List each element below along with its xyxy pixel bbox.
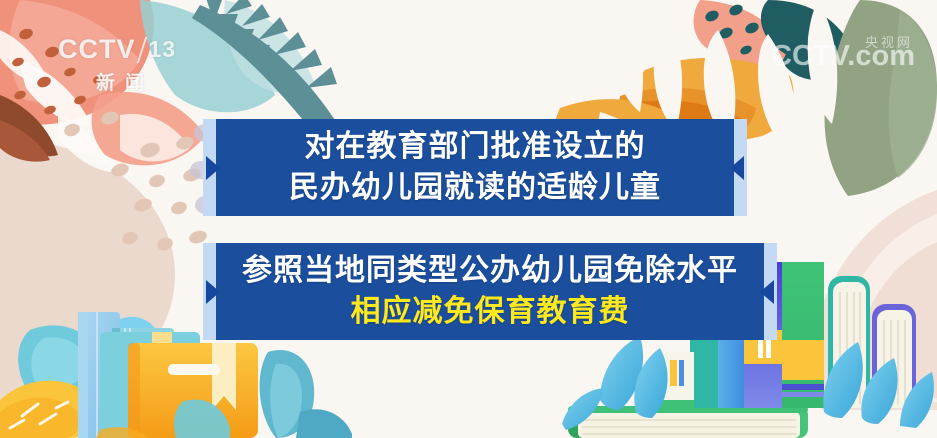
left-triangle-icon — [730, 156, 744, 180]
callout-box-2: 参照当地同类型公办幼儿园免除水平 相应减免保育教育费 — [203, 243, 777, 340]
callout-2-left-edge — [203, 243, 216, 340]
watermark-cn-text: 央视网 — [865, 36, 913, 49]
cctv-logo-row: CCTV 13 — [58, 36, 178, 63]
callout-2-panel: 参照当地同类型公办幼儿园免除水平 相应减免保育教育费 — [216, 243, 764, 340]
cctv-com-watermark: 央视网 CCTV.com — [771, 42, 915, 71]
callout-box-1: 对在教育部门批准设立的 民办幼儿园就读的适龄儿童 — [203, 119, 747, 216]
cctv-13-logo: CCTV 13 新闻 — [58, 36, 178, 94]
cctv-channel-number: 13 — [149, 38, 177, 61]
callout-1-line-2: 民办幼儿园就读的适龄儿童 — [289, 168, 661, 208]
cctv-brand-text: CCTV — [58, 36, 136, 63]
callout-1-left-edge — [203, 119, 216, 216]
callout-1-panel: 对在教育部门批准设立的 民办幼儿园就读的适龄儿童 — [216, 119, 734, 216]
right-triangle-icon — [206, 156, 220, 180]
cctv-channel-name-cn: 新闻 — [58, 68, 178, 95]
cctv-logo-slash — [136, 37, 146, 63]
news-graphic-screen: CCTV 13 新闻 央视网 CCTV.com 对在教育部门批准设立的 民办幼儿… — [0, 0, 937, 438]
callout-1-right-edge — [734, 119, 747, 216]
callout-2-right-edge — [764, 243, 777, 340]
callout-2-line-1: 参照当地同类型公办幼儿园免除水平 — [242, 251, 738, 291]
left-triangle-icon — [760, 280, 774, 304]
right-triangle-icon — [206, 280, 220, 304]
callout-1-line-1: 对在教育部门批准设立的 — [305, 127, 646, 167]
callout-2-line-2: 相应减免保育教育费 — [351, 292, 630, 332]
